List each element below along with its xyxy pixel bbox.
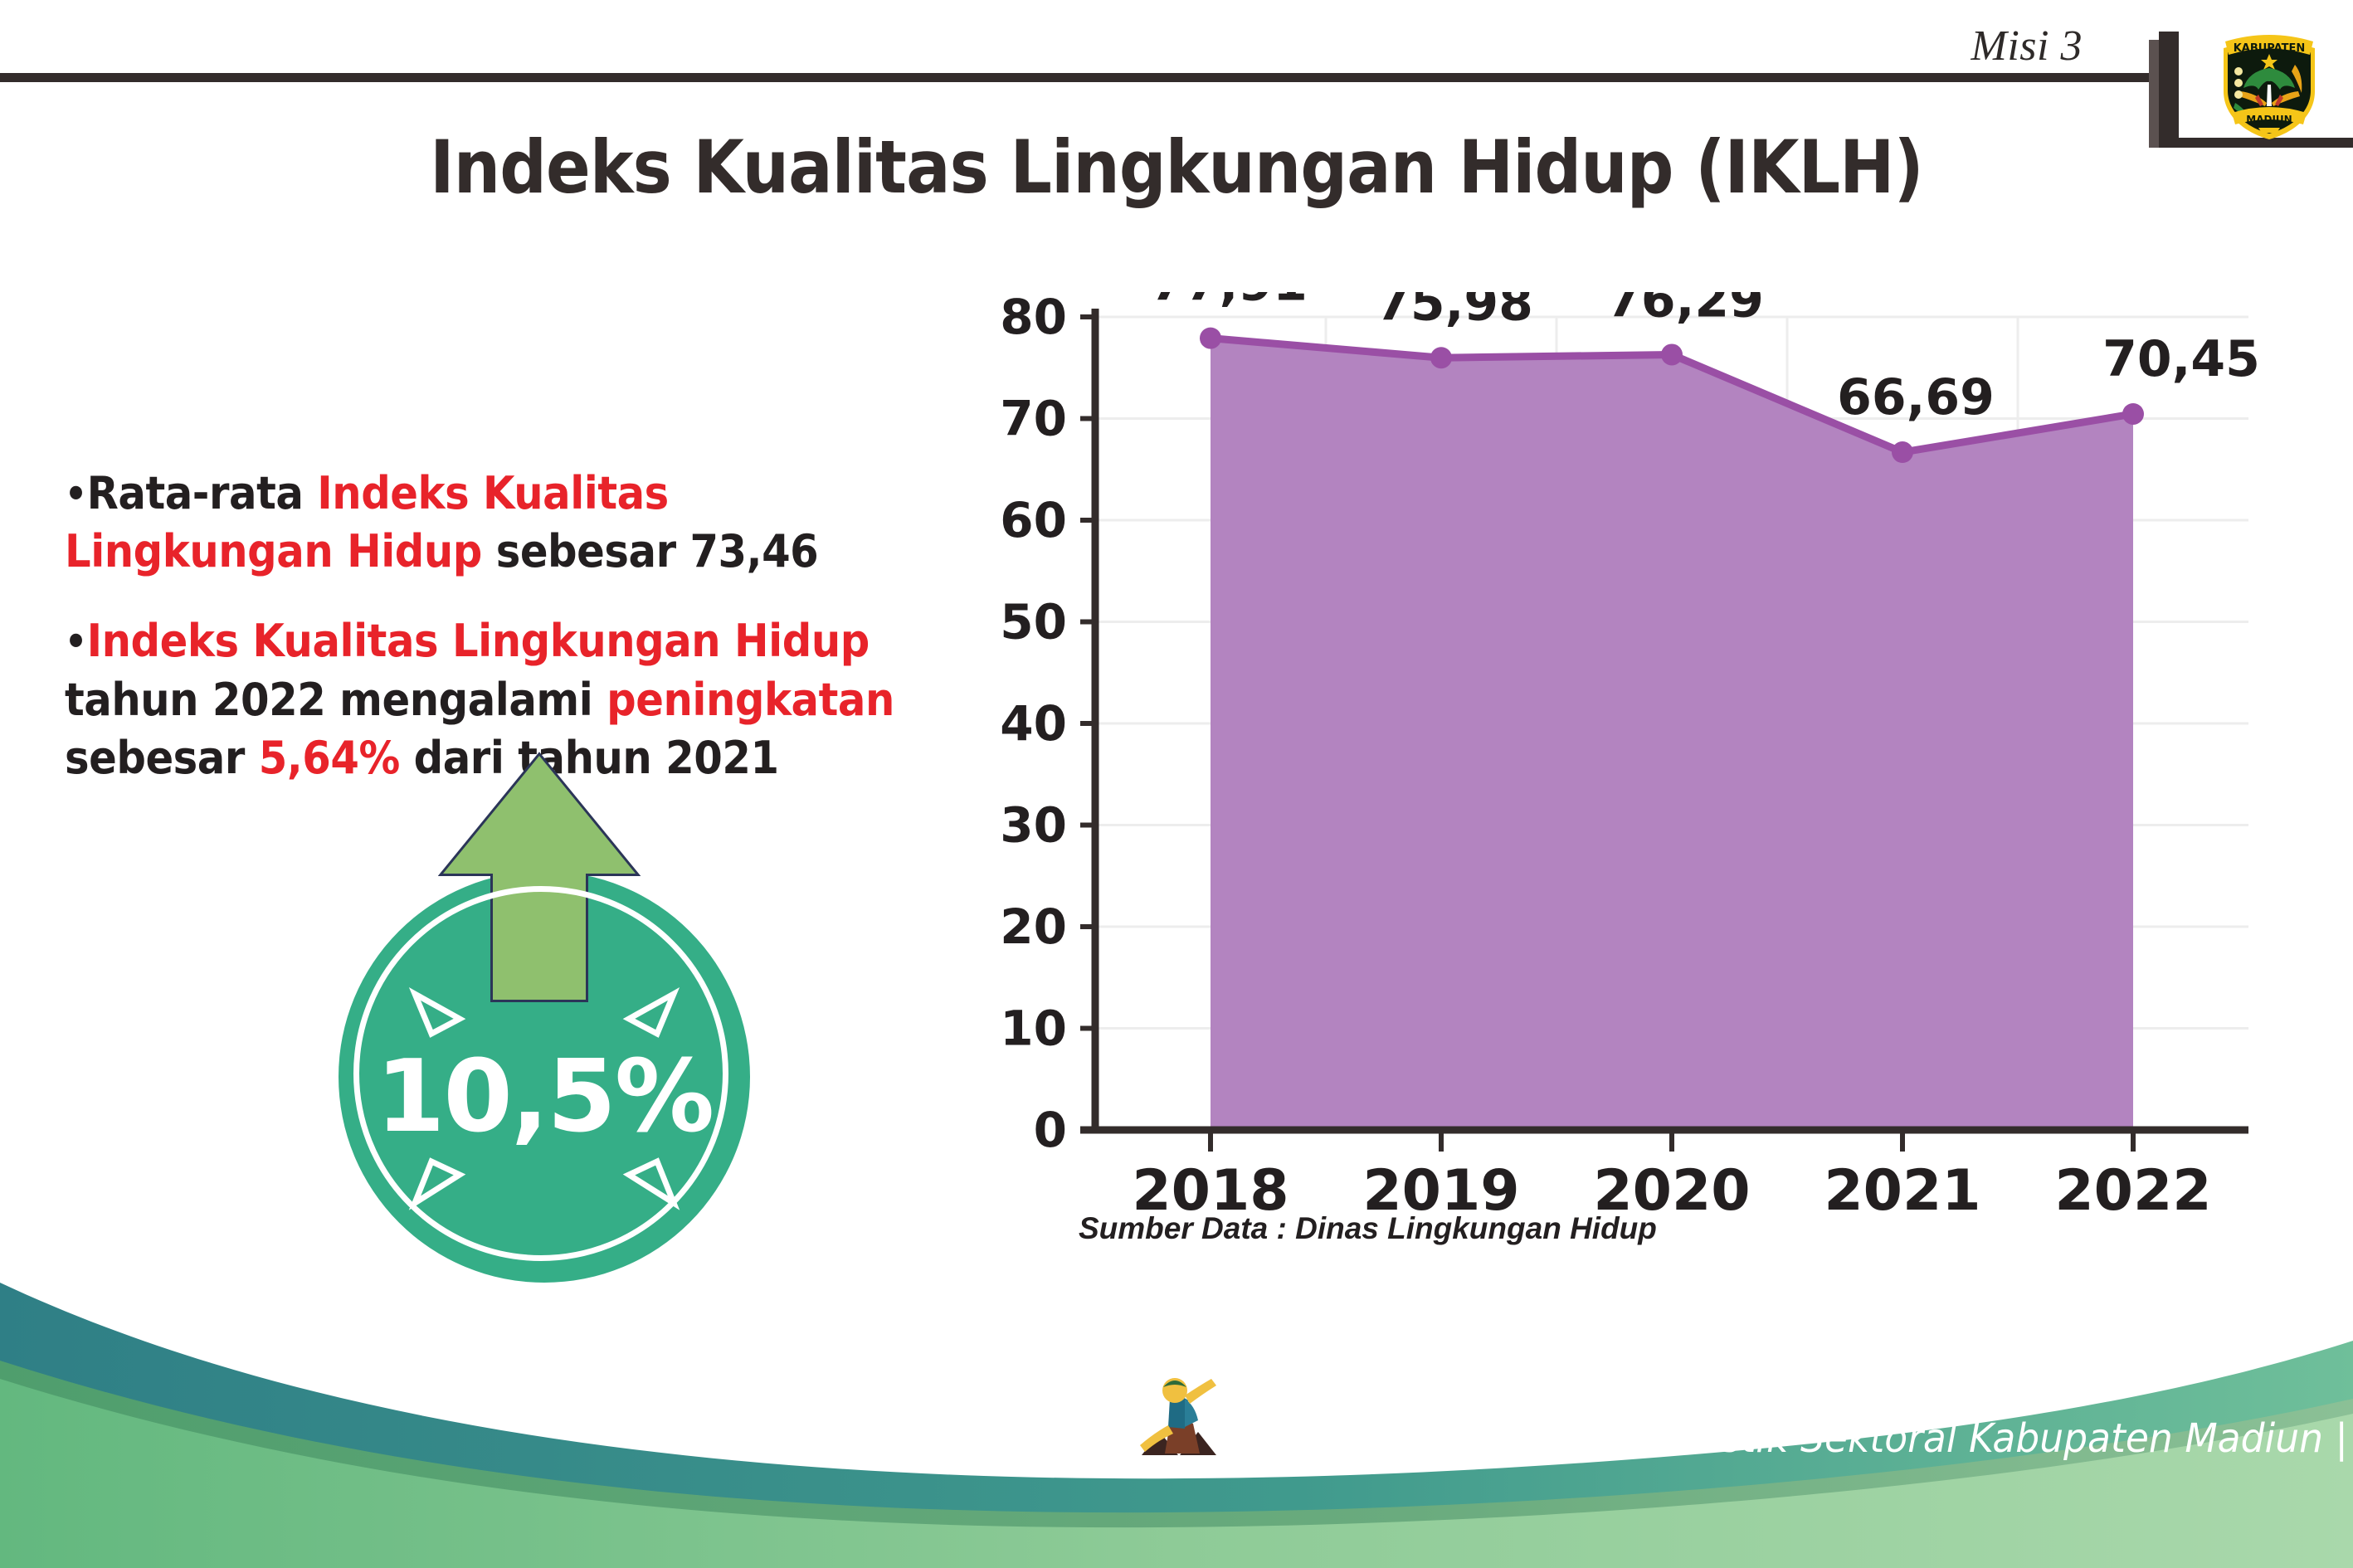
- infographic-slide: Misi 3 KABUPATEN MADIUN Indeks Kualit: [0, 0, 2353, 1568]
- badge-percentage-value: 10,5%: [339, 871, 750, 1283]
- chart-x-tick-label: 2021: [1824, 1158, 1980, 1213]
- chart-area-fill: [1211, 338, 2133, 1130]
- chart-marker: [1200, 328, 1221, 349]
- chart-y-tick-label: 30: [1000, 797, 1067, 854]
- iklh-area-chart: 77,9175,9876,2966,6970,45010203040506070…: [971, 292, 2265, 1213]
- misi-label: Misi 3: [1971, 22, 2083, 71]
- chart-marker: [1430, 347, 1452, 368]
- bullet-1-part-0: Indeks Kualitas Lingkungan Hidup: [87, 615, 870, 667]
- chart-point-label: 66,69: [1837, 368, 1995, 426]
- bullet-item-average: •Rata-rata Indeks Kualitas Lingkungan Hi…: [65, 465, 897, 581]
- chart-point-label: 77,91: [1150, 292, 1308, 313]
- header-divider: [0, 73, 2165, 82]
- chart-y-tick-label: 20: [1000, 898, 1067, 955]
- bullet-0-part-0: Rata-rata: [87, 467, 318, 519]
- chart-point-label: 76,29: [1606, 292, 1764, 329]
- chart-y-tick-label: 60: [1000, 492, 1067, 548]
- chart-y-tick-label: 40: [1000, 695, 1067, 752]
- dancer-figure-icon: [1135, 1366, 1226, 1482]
- bullet-marker: •: [65, 471, 87, 516]
- chart-point-label: 75,98: [1376, 292, 1533, 332]
- page-title: Indeks Kualitas Lingkungan Hidup (IKLH): [118, 124, 2235, 210]
- chart-y-tick-label: 70: [1000, 391, 1067, 447]
- footer-caption: Media Infografis Data Statistik Sektoral…: [1215, 1415, 2348, 1462]
- chart-marker: [1892, 441, 1913, 463]
- chart-marker: [2122, 403, 2144, 425]
- chart-x-tick-label: 2019: [1362, 1158, 1519, 1213]
- chart-x-tick-label: 2020: [1593, 1158, 1750, 1213]
- chart-x-tick-label: 2018: [1132, 1158, 1289, 1213]
- chart-y-tick-label: 50: [1000, 594, 1067, 650]
- bullet-1-part-3: sebesar: [65, 732, 259, 784]
- chart-y-tick-label: 0: [1034, 1102, 1067, 1158]
- bullet-0-part-2: sebesar 73,46: [482, 525, 818, 577]
- svg-text:MADIUN: MADIUN: [2246, 114, 2292, 125]
- chart-y-tick-label: 10: [1000, 1001, 1067, 1057]
- bullet-marker: •: [65, 619, 87, 664]
- chart-y-tick-label: 80: [1000, 292, 1067, 345]
- bullet-1-part-1: tahun 2022 mengalami: [65, 674, 607, 726]
- chart-x-tick-label: 2022: [2054, 1158, 2211, 1213]
- svg-text:KABUPATEN: KABUPATEN: [2234, 42, 2306, 55]
- increase-badge: 10,5%: [322, 751, 753, 1215]
- chart-point-label: 70,45: [2102, 330, 2260, 388]
- chart-marker: [1661, 343, 1683, 365]
- bullet-1-part-2: peningkatan: [607, 674, 894, 726]
